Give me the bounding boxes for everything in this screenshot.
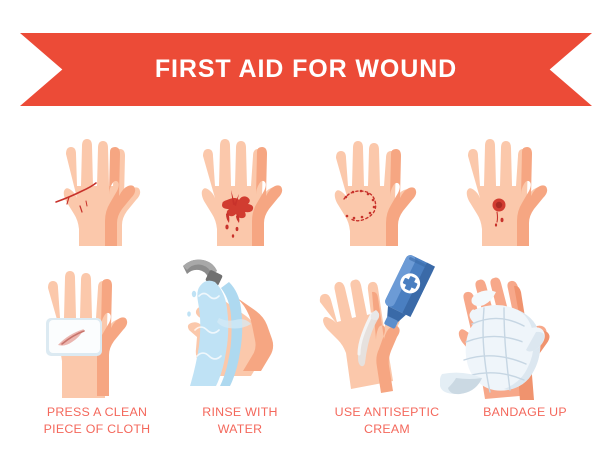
illustration-hand-with-scratch-wound — [22, 128, 175, 246]
faucet — [183, 260, 223, 287]
antiseptic-cream-tube — [376, 253, 435, 333]
title-banner: FIRST AID FOR WOUND — [20, 33, 592, 106]
illustration-hand-with-stitched-cut — [306, 128, 459, 246]
illustration-hand-pressed-with-gauze-cloth — [22, 252, 175, 400]
hand-bandage-art — [440, 252, 593, 400]
hand-puncture-art — [440, 128, 593, 246]
hand-scratch-art — [22, 128, 175, 246]
hand-shape — [467, 139, 547, 246]
hand-shape — [64, 139, 140, 246]
gauze-cloth-pad — [46, 318, 102, 356]
hand-shape — [335, 141, 416, 246]
hand-stitched-art — [306, 128, 459, 246]
hand-gauze-art — [22, 252, 175, 400]
bandage-loose-tail — [440, 373, 482, 394]
caption-line-2: CREAM — [299, 421, 475, 438]
page-title: FIRST AID FOR WOUND — [20, 33, 592, 106]
caption-bandage-up: BANDAGE UP — [437, 404, 612, 421]
caption-line-1: BANDAGE UP — [437, 404, 612, 421]
illustration-hand-with-puncture-wound — [440, 128, 593, 246]
illustration-hand-wrapped-in-bandage — [440, 252, 593, 400]
illustration-hand-with-antiseptic-cream-tube — [306, 252, 459, 400]
first-aid-infographic: FIRST AID FOR WOUND — [0, 0, 612, 459]
hand-cream-art — [306, 252, 459, 400]
hand-shape — [202, 139, 282, 246]
